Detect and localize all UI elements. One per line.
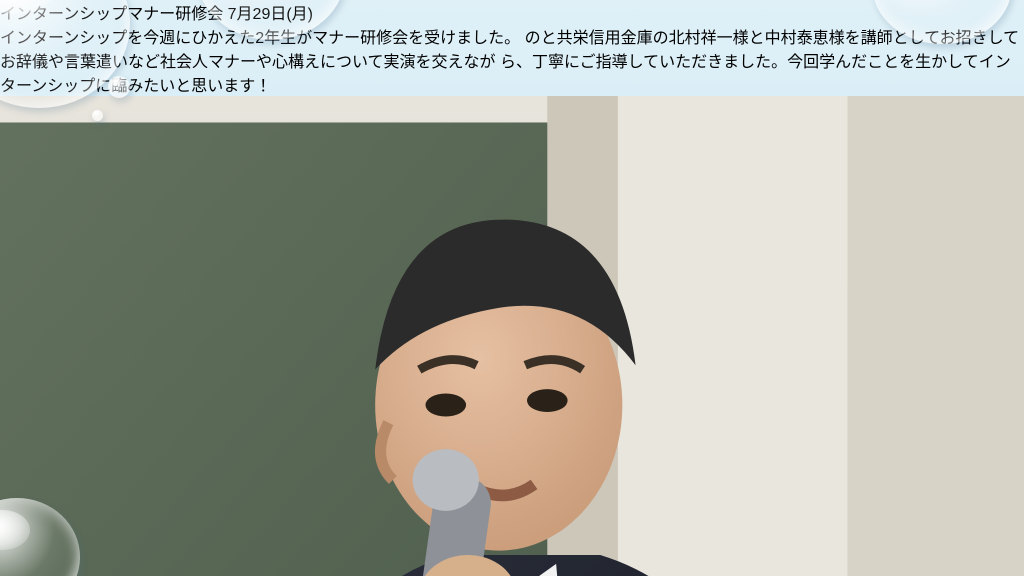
- body-line: ターンシップに臨みたいと思います！: [0, 78, 271, 95]
- photo-strip: [0, 96, 1024, 576]
- slide-canvas: インターンシップマナー研修会 7月29日(月) インターンシップを今週にひかえた…: [0, 0, 1024, 576]
- photo-speaker-male: [0, 96, 1024, 576]
- event-date: 7月29日(月): [228, 6, 313, 23]
- article-body: インターンシップを今週にひかえた2年生がマナー研修会を受けました。 のと共栄信用…: [0, 24, 1024, 96]
- body-line: ら、丁寧にご指導していただきました。今回学んだことを生かしてイン: [500, 54, 1011, 71]
- page-title: インターンシップマナー研修会: [0, 6, 223, 23]
- body-line: のと共栄信用金庫の北村祥一様と中村泰恵様を講師としてお招きして: [525, 30, 1020, 47]
- title-bar: インターンシップマナー研修会 7月29日(月): [0, 0, 1024, 24]
- body-line: お辞儀や言葉遣いなど社会人マナーや心構えについて実演を交えなが: [0, 54, 496, 71]
- body-line: インターンシップを今週にひかえた2年生がマナー研修会を受けました。: [0, 30, 520, 47]
